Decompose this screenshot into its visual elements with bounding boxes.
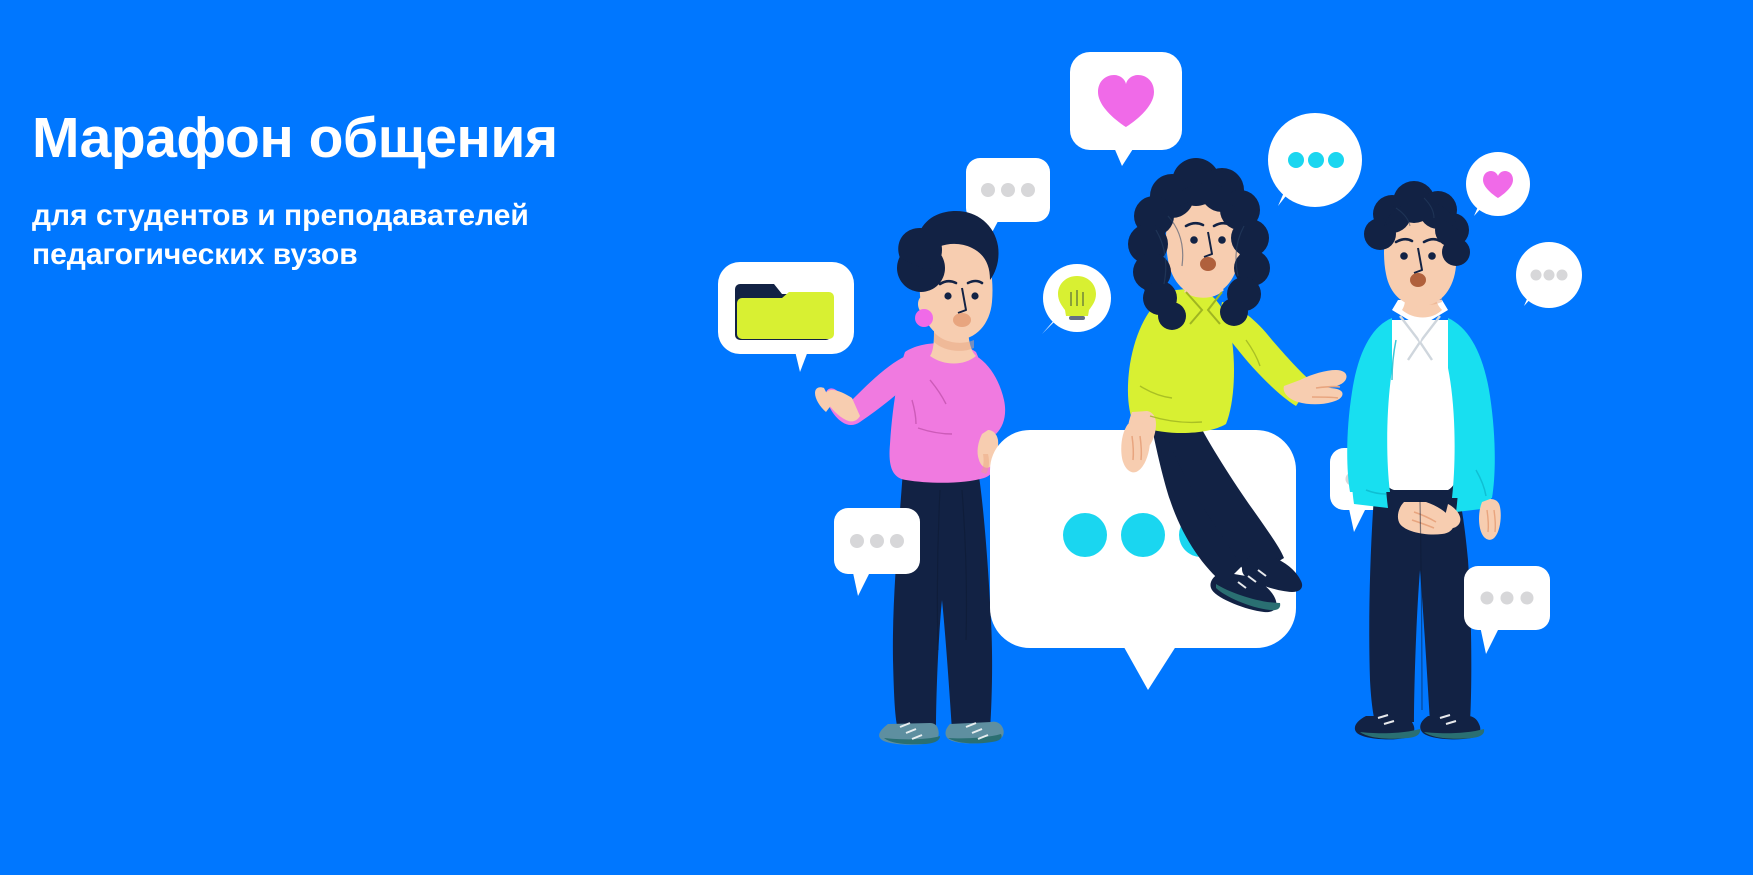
page-subtitle: для студентов и преподавателей педагогич… <box>32 196 692 276</box>
bubble-dots-circle-grey-right <box>1516 242 1582 308</box>
bubble-dots-circle-cyan <box>1268 113 1362 207</box>
promo-banner: Марафон общения для студентов и преподав… <box>0 0 1753 875</box>
headline-block: Марафон общения для студентов и преподав… <box>32 108 732 275</box>
bubble-heart-right <box>1466 152 1530 216</box>
bubble-heart-top <box>1070 52 1182 166</box>
page-title: Марафон общения <box>32 108 732 170</box>
